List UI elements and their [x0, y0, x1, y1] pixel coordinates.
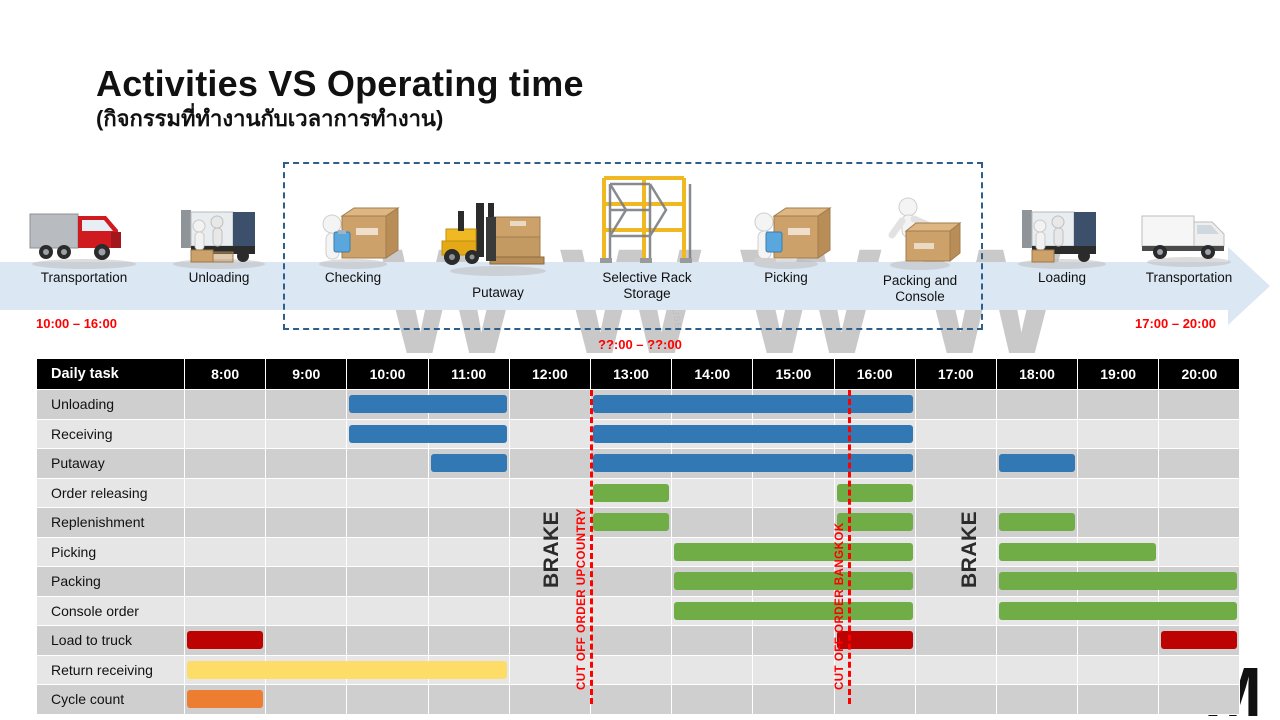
- schedule-bar: [1161, 631, 1237, 649]
- schedule-cell: [834, 508, 915, 538]
- schedule-cell: [996, 449, 1077, 479]
- task-label: Replenishment: [37, 508, 185, 538]
- forklift-pallet-icon: [432, 195, 564, 279]
- schedule-cell: [1159, 419, 1240, 449]
- column-header-1400: 14:00: [672, 359, 753, 390]
- schedule-cell: [428, 419, 509, 449]
- schedule-cell: [347, 596, 428, 626]
- schedule-cell: [509, 390, 590, 420]
- person-packing-box-icon: [862, 193, 978, 271]
- schedule-bar: [837, 513, 913, 531]
- schedule-cell: [996, 655, 1077, 685]
- schedule-cell: [672, 478, 753, 508]
- schedule-bar: [431, 454, 507, 472]
- schedule-bar: [1157, 602, 1237, 620]
- schedule-cell: [590, 537, 671, 567]
- schedule-bar: [264, 661, 348, 679]
- schedule-cell: [753, 567, 834, 597]
- schedule-cell: [185, 419, 266, 449]
- process-step-label: Transportation: [1128, 270, 1250, 286]
- schedule-cell: [753, 655, 834, 685]
- schedule-cell: [1159, 478, 1240, 508]
- schedule-cell: [428, 567, 509, 597]
- schedule-cell: [590, 596, 671, 626]
- schedule-bar: [751, 454, 835, 472]
- schedule-cell: [996, 537, 1077, 567]
- schedule-bar: [593, 425, 673, 443]
- schedule-cell: [428, 508, 509, 538]
- process-step-label: Unloading: [155, 270, 283, 286]
- schedule-bar: [593, 395, 673, 413]
- schedule-cell: [1078, 655, 1159, 685]
- column-header-1200: 12:00: [509, 359, 590, 390]
- schedule-cell: [428, 685, 509, 715]
- schedule-bar: [670, 425, 754, 443]
- schedule-cell: [266, 537, 347, 567]
- table-row: Cycle count: [37, 685, 1240, 715]
- schedule-cell: [428, 537, 509, 567]
- schedule-cell: [834, 390, 915, 420]
- schedule-cell: [185, 508, 266, 538]
- schedule-cell: [834, 596, 915, 626]
- schedule-cell: [185, 567, 266, 597]
- schedule-cell: [915, 596, 996, 626]
- process-step-transportation-out: Transportation: [1128, 200, 1250, 286]
- column-header-1800: 18:00: [996, 359, 1077, 390]
- schedule-bar: [837, 484, 913, 502]
- schedule-cell: [509, 685, 590, 715]
- schedule-cell: [1078, 390, 1159, 420]
- column-header-1100: 11:00: [428, 359, 509, 390]
- schedule-bar: [593, 484, 669, 502]
- schedule-cell: [1078, 685, 1159, 715]
- schedule-cell: [347, 390, 428, 420]
- schedule-cell: [347, 685, 428, 715]
- schedule-cell: [590, 626, 671, 656]
- schedule-cell: [834, 478, 915, 508]
- schedule-cell: [266, 508, 347, 538]
- schedule-cell: [590, 478, 671, 508]
- column-header-800: 8:00: [185, 359, 266, 390]
- schedule-cell: [753, 626, 834, 656]
- schedule-cell: [1078, 626, 1159, 656]
- process-step-loading: Loading: [1000, 200, 1124, 286]
- schedule-cell: [1159, 567, 1240, 597]
- schedule-bar: [427, 661, 507, 679]
- schedule-bar: [1076, 543, 1156, 561]
- schedule-cell: [1078, 449, 1159, 479]
- schedule-bar: [1076, 572, 1160, 590]
- schedule-cell: [266, 478, 347, 508]
- table-row: Packing: [37, 567, 1240, 597]
- schedule-cell: [428, 449, 509, 479]
- schedule-cell: [996, 626, 1077, 656]
- schedule-cell: [996, 596, 1077, 626]
- task-label: Unloading: [37, 390, 185, 420]
- schedule-cell: [509, 596, 590, 626]
- schedule-cell: [1078, 508, 1159, 538]
- schedule-bar: [593, 454, 673, 472]
- schedule-bar: [345, 661, 429, 679]
- process-step-label: Packing and Console: [862, 273, 978, 305]
- schedule-cell: [753, 478, 834, 508]
- schedule-cell: [672, 419, 753, 449]
- schedule-cell: [428, 390, 509, 420]
- schedule-bar: [751, 543, 835, 561]
- schedule-cell: [347, 508, 428, 538]
- schedule-cell: [1078, 596, 1159, 626]
- process-step-transportation-in: Transportation: [16, 200, 152, 286]
- schedule-cell: [915, 478, 996, 508]
- schedule-cell: [1159, 685, 1240, 715]
- schedule-bar: [833, 543, 913, 561]
- title-subtitle: (กิจกรรมที่ทำงานกับเวลาการทำงาน): [96, 104, 584, 134]
- task-label: Packing: [37, 567, 185, 597]
- schedule-cell: [266, 655, 347, 685]
- schedule-bar: [349, 395, 429, 413]
- schedule-bar: [833, 425, 913, 443]
- process-step-unloading: Unloading: [155, 200, 283, 286]
- schedule-bar: [187, 690, 263, 708]
- column-header-1900: 19:00: [1078, 359, 1159, 390]
- schedule-cell: [915, 567, 996, 597]
- schedule-cell: [672, 537, 753, 567]
- schedule-cell: [672, 685, 753, 715]
- schedule-cell: [753, 390, 834, 420]
- schedule-cell: [996, 685, 1077, 715]
- schedule-cell: [509, 508, 590, 538]
- schedule-cell: [509, 567, 590, 597]
- schedule-cell: [834, 567, 915, 597]
- column-header-1600: 16:00: [834, 359, 915, 390]
- schedule-bar: [187, 661, 267, 679]
- schedule-cell: [915, 685, 996, 715]
- table-row: Picking: [37, 537, 1240, 567]
- schedule-cell: [1159, 449, 1240, 479]
- pallet-rack-icon: [586, 170, 708, 270]
- process-step-checking: Checking: [294, 200, 412, 286]
- task-label: Load to truck: [37, 626, 185, 656]
- schedule-cell: [834, 685, 915, 715]
- schedule-cell: [915, 626, 996, 656]
- schedule-cell: [1078, 419, 1159, 449]
- column-header-1300: 13:00: [590, 359, 671, 390]
- schedule-bar: [187, 631, 263, 649]
- schedule-cell: [915, 508, 996, 538]
- white-box-truck-icon: [1128, 200, 1250, 270]
- truck-loading-icon: [1000, 200, 1124, 270]
- clipboard-person-box-icon: [294, 200, 412, 270]
- schedule-cell: [996, 567, 1077, 597]
- schedule-bar: [427, 425, 507, 443]
- schedule-cell: [185, 449, 266, 479]
- schedule-cell: [834, 449, 915, 479]
- column-header-1500: 15:00: [753, 359, 834, 390]
- schedule-bar: [1157, 572, 1237, 590]
- schedule-cell: [266, 567, 347, 597]
- schedule-cell: [915, 537, 996, 567]
- schedule-cell: [834, 537, 915, 567]
- schedule-cell: [590, 449, 671, 479]
- task-label: Order releasing: [37, 478, 185, 508]
- table-row: Unloading: [37, 390, 1240, 420]
- schedule-cell: [672, 390, 753, 420]
- process-step-putaway: Putaway: [432, 195, 564, 301]
- schedule-bar: [833, 572, 913, 590]
- schedule-bar: [593, 513, 669, 531]
- schedule-cell: [1159, 596, 1240, 626]
- process-step-selective-rack-storage: Selective Rack Storage: [586, 170, 708, 302]
- schedule-bar: [751, 572, 835, 590]
- page-title: Activities VS Operating time (กิจกรรมที่…: [96, 62, 584, 134]
- table-row: Putaway: [37, 449, 1240, 479]
- time-label-inbound: 10:00 – 16:00: [36, 316, 117, 331]
- schedule-cell: [834, 655, 915, 685]
- task-label: Picking: [37, 537, 185, 567]
- schedule-cell: [347, 478, 428, 508]
- schedule-cell: [753, 596, 834, 626]
- person-picking-box-icon: [728, 200, 844, 270]
- schedule-cell: [753, 449, 834, 479]
- schedule-cell: [996, 508, 1077, 538]
- schedule-cell: [185, 626, 266, 656]
- schedule-cell: [996, 478, 1077, 508]
- schedule-cell: [1078, 478, 1159, 508]
- schedule-cell: [1159, 390, 1240, 420]
- schedule-cell: [428, 596, 509, 626]
- schedule-cell: [509, 655, 590, 685]
- schedule-cell: [509, 449, 590, 479]
- schedule-cell: [672, 567, 753, 597]
- schedule-cell: [590, 567, 671, 597]
- schedule-cell: [590, 390, 671, 420]
- schedule-bar: [1076, 602, 1160, 620]
- schedule-cell: [753, 508, 834, 538]
- schedule-bar: [670, 395, 754, 413]
- schedule-bar: [999, 513, 1075, 531]
- schedule-bar: [999, 602, 1079, 620]
- table-header-row: Daily task 8:009:0010:0011:0012:0013:001…: [37, 359, 1240, 390]
- process-step-label: Picking: [728, 270, 844, 286]
- schedule-cell: [915, 390, 996, 420]
- schedule-bar: [999, 572, 1079, 590]
- schedule-bar: [674, 543, 754, 561]
- schedule-cell: [834, 419, 915, 449]
- schedule-bar: [833, 602, 913, 620]
- schedule-cell: [428, 478, 509, 508]
- schedule-cell: [915, 449, 996, 479]
- table-row: Replenishment: [37, 508, 1240, 538]
- red-semi-truck-icon: [16, 200, 152, 270]
- schedule-cell: [266, 685, 347, 715]
- schedule-cell: [347, 449, 428, 479]
- process-step-packing-console: Packing and Console: [862, 193, 978, 305]
- schedule-cell: [672, 449, 753, 479]
- schedule-cell: [428, 626, 509, 656]
- column-header-task: Daily task: [37, 359, 185, 390]
- process-step-label: Loading: [1000, 270, 1124, 286]
- schedule-bar: [427, 395, 507, 413]
- schedule-bar: [670, 454, 754, 472]
- schedule-bar: [999, 454, 1075, 472]
- schedule-cell: [347, 419, 428, 449]
- schedule-cell: [915, 419, 996, 449]
- table-row: Load to truck: [37, 626, 1240, 656]
- schedule-cell: [753, 537, 834, 567]
- schedule-cell: [996, 390, 1077, 420]
- schedule-cell: [590, 685, 671, 715]
- schedule-cell: [1159, 655, 1240, 685]
- schedule-cell: [590, 419, 671, 449]
- schedule-cell: [915, 655, 996, 685]
- process-step-label: Checking: [294, 270, 412, 286]
- schedule-cell: [590, 508, 671, 538]
- schedule-cell: [996, 419, 1077, 449]
- task-label: Receiving: [37, 419, 185, 449]
- schedule-cell: [509, 537, 590, 567]
- daily-task-schedule-table: Daily task 8:009:0010:0011:0012:0013:001…: [36, 358, 1240, 715]
- schedule-cell: [185, 537, 266, 567]
- schedule-cell: [672, 655, 753, 685]
- time-label-internal: ??:00 – ??:00: [598, 337, 682, 352]
- schedule-cell: [753, 419, 834, 449]
- table-row: Return receiving: [37, 655, 1240, 685]
- schedule-cell: [509, 478, 590, 508]
- schedule-cell: [672, 596, 753, 626]
- schedule-cell: [672, 508, 753, 538]
- column-header-2000: 20:00: [1159, 359, 1240, 390]
- truck-unloading-icon: [155, 200, 283, 270]
- schedule-cell: [672, 626, 753, 656]
- column-header-1000: 10:00: [347, 359, 428, 390]
- schedule-cell: [185, 655, 266, 685]
- title-main: Activities VS Operating time: [96, 62, 584, 106]
- schedule-bar: [833, 395, 913, 413]
- schedule-cell: [1159, 508, 1240, 538]
- schedule-bar: [751, 395, 835, 413]
- schedule-cell: [266, 419, 347, 449]
- schedule-cell: [347, 567, 428, 597]
- slide-canvas: W W W W WAREHOUSE M Activities VS Operat…: [0, 0, 1280, 720]
- schedule-cell: [428, 655, 509, 685]
- process-step-label: Selective Rack Storage: [586, 270, 708, 302]
- schedule-cell: [509, 419, 590, 449]
- schedule-bar: [349, 425, 429, 443]
- task-label: Putaway: [37, 449, 185, 479]
- table-row: Console order: [37, 596, 1240, 626]
- schedule-cell: [266, 390, 347, 420]
- schedule-bar: [751, 602, 835, 620]
- process-step-picking: Picking: [728, 200, 844, 286]
- task-label: Return receiving: [37, 655, 185, 685]
- column-header-1700: 17:00: [915, 359, 996, 390]
- schedule-bar: [837, 631, 913, 649]
- schedule-cell: [185, 685, 266, 715]
- table-row: Order releasing: [37, 478, 1240, 508]
- schedule-cell: [753, 685, 834, 715]
- schedule-bar: [999, 543, 1079, 561]
- schedule-cell: [266, 449, 347, 479]
- schedule-cell: [1078, 537, 1159, 567]
- process-step-label: Putaway: [432, 285, 564, 301]
- time-label-outbound: 17:00 – 20:00: [1135, 316, 1216, 331]
- schedule-bar: [833, 454, 913, 472]
- schedule-bar: [674, 602, 754, 620]
- schedule-cell: [347, 655, 428, 685]
- schedule-bar: [751, 425, 835, 443]
- task-label: Console order: [37, 596, 185, 626]
- schedule-cell: [1078, 567, 1159, 597]
- schedule-cell: [266, 626, 347, 656]
- process-step-label: Transportation: [16, 270, 152, 286]
- schedule-cell: [185, 596, 266, 626]
- schedule-cell: [347, 626, 428, 656]
- schedule-cell: [185, 390, 266, 420]
- table-row: Receiving: [37, 419, 1240, 449]
- schedule-cell: [185, 478, 266, 508]
- schedule-cell: [1159, 626, 1240, 656]
- column-header-900: 9:00: [266, 359, 347, 390]
- schedule-bar: [674, 572, 754, 590]
- schedule-cell: [590, 655, 671, 685]
- schedule-cell: [1159, 537, 1240, 567]
- schedule-cell: [834, 626, 915, 656]
- task-label: Cycle count: [37, 685, 185, 715]
- schedule-cell: [347, 537, 428, 567]
- schedule-cell: [266, 596, 347, 626]
- schedule-cell: [509, 626, 590, 656]
